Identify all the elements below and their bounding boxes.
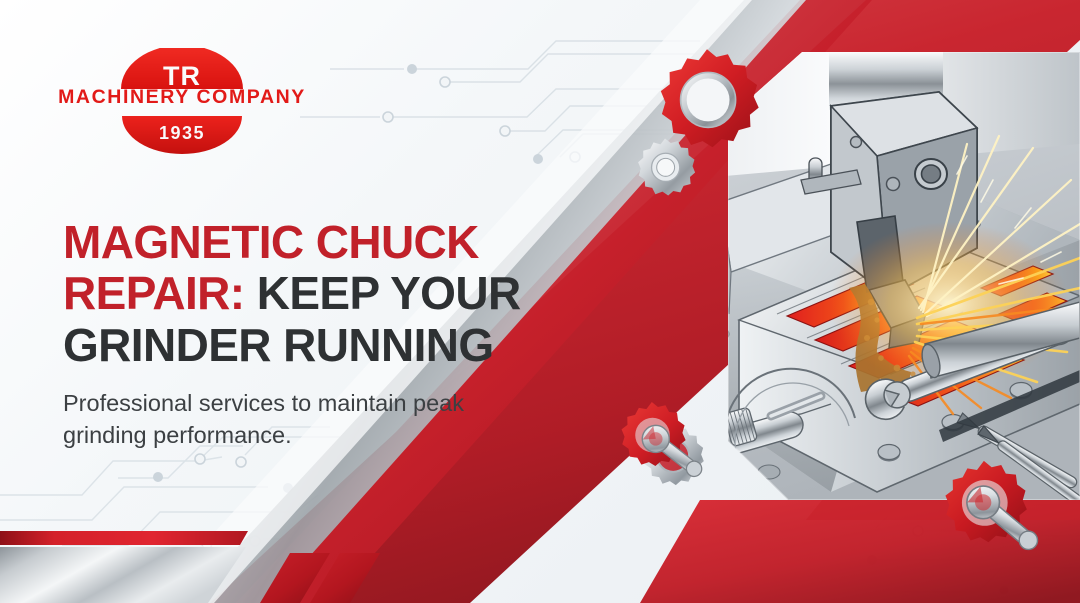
gear-wrench-icon (932, 452, 1054, 574)
red-slash-accent (260, 553, 330, 603)
logo-dome-mark: TR (119, 48, 245, 90)
bottom-accent-bars (0, 483, 1080, 603)
logo-company-name: MACHINERY COMPANY (57, 86, 307, 109)
gear-wrench-icon (614, 398, 722, 506)
red-slash-accent (310, 553, 380, 603)
page-subtitle: Professional services to maintain peak g… (63, 387, 533, 452)
tr-machinery-company-logo[interactable]: TR MACHINERY COMPANY 1935 (57, 42, 307, 158)
gear-icon (633, 136, 697, 200)
page-title: MAGNETIC CHUCK REPAIR: KEEP YOUR GRINDER… (63, 217, 623, 372)
marketing-banner: TR MACHINERY COMPANY 1935 MAGNETIC C (0, 0, 1080, 603)
logo-year-banner: 1935 (121, 114, 243, 154)
